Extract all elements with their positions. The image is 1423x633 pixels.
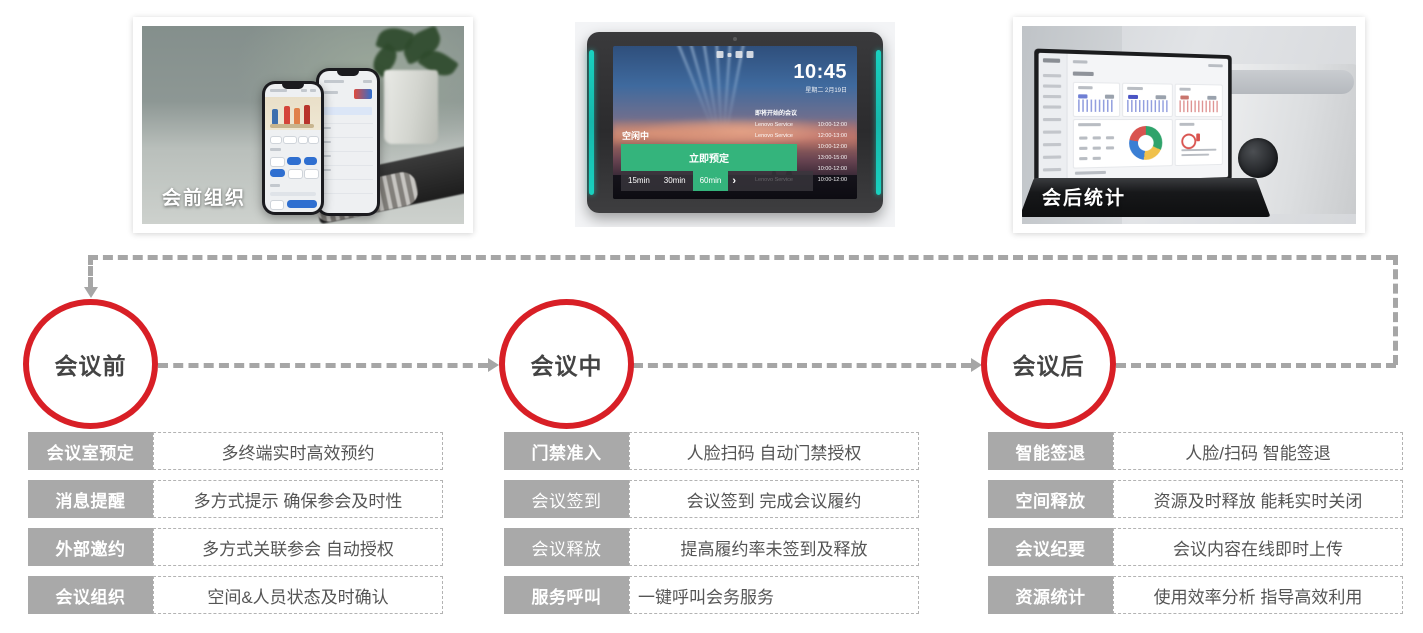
feature-row[interactable]: 空间释放 资源及时释放 能耗实时关闭	[988, 480, 1403, 518]
tablet-date: 星期二 2月19日	[755, 85, 847, 94]
stage-circle-post-meeting[interactable]: 会议后	[981, 299, 1116, 429]
meeting-time: 10:00-12:00	[818, 144, 847, 150]
meeting-name: Lenovo Service	[755, 133, 793, 139]
tablet-duration-bar: 15min 30min 60min ›	[621, 171, 813, 191]
ui-chip	[298, 136, 308, 144]
feature-desc: 会议签到 完成会议履约	[629, 480, 919, 518]
dashboard-nav-item	[1043, 84, 1061, 87]
card-title	[1127, 87, 1143, 90]
ui-line	[324, 80, 344, 83]
dashboard-alert-card	[1175, 119, 1223, 166]
card-title	[1078, 123, 1101, 126]
ui-line	[310, 89, 316, 92]
ui-line	[301, 89, 307, 92]
feature-row[interactable]: 外部邀约 多方式关联参会 自动授权	[28, 528, 443, 566]
duration-option-60[interactable]: 60min	[693, 171, 729, 191]
ui-figure	[294, 108, 300, 125]
ui-line	[323, 141, 331, 143]
ui-line	[270, 148, 281, 151]
feature-tag: 外部邀约	[28, 528, 153, 566]
infographic-canvas: 会前组织	[0, 0, 1423, 633]
dashboard-stat-card	[1175, 84, 1223, 117]
phone-notch	[337, 71, 359, 76]
ui-chip	[304, 169, 319, 179]
tablet-status-led-right	[876, 50, 881, 195]
ui-line	[270, 184, 280, 187]
meeting-time: 10:00-12:00	[818, 166, 847, 172]
meeting-name: Lenovo Service	[755, 122, 793, 128]
ui-line	[323, 169, 331, 171]
feedback-loop-bottom-segment	[1116, 363, 1396, 368]
dashboard-sidebar	[1039, 53, 1068, 183]
meeting-time: 13:00-15:00	[818, 155, 847, 161]
feature-tag: 门禁准入	[504, 432, 629, 470]
dashboard-breadcrumb	[1073, 60, 1088, 63]
alert-line	[1181, 154, 1209, 156]
feedback-loop-arrowhead	[84, 287, 98, 298]
ui-chip	[270, 200, 284, 210]
flow-arrowhead-1	[488, 358, 499, 372]
tablet-status-bar	[717, 51, 754, 58]
card-metric	[1207, 96, 1216, 100]
feature-desc: 空间&人员状态及时确认	[153, 576, 443, 614]
feature-tag: 会议组织	[28, 576, 153, 614]
feature-desc: 资源及时释放 能耗实时关闭	[1113, 480, 1403, 518]
ui-figure	[284, 106, 290, 125]
ui-button	[287, 157, 301, 165]
ui-button	[270, 169, 285, 177]
dashboard-nav-item	[1043, 95, 1061, 98]
laptop-screen-dashboard	[1039, 53, 1229, 183]
tablet-book-now-button[interactable]: 立即预定	[621, 144, 797, 171]
usage-value	[1079, 147, 1087, 150]
feature-row[interactable]: 会议室预定 多终端实时高效预约	[28, 432, 443, 470]
ui-chip	[270, 136, 282, 144]
tablet-room-status: 空闲中	[622, 129, 649, 142]
feature-desc: 会议内容在线即时上传	[1113, 528, 1403, 566]
dashboard-nav-item	[1043, 168, 1061, 171]
ui-divider	[323, 151, 373, 152]
feature-row[interactable]: 资源统计 使用效率分析 指导高效利用	[988, 576, 1403, 614]
tablet-meeting-row: Lenovo Service 12:00-13:00	[755, 133, 847, 139]
post-meeting-caption: 会后统计	[1042, 183, 1126, 210]
usage-donut-chart	[1129, 126, 1162, 160]
dashboard-nav-item	[1043, 130, 1061, 133]
ui-divider	[323, 137, 373, 138]
usage-value	[1106, 146, 1114, 149]
ui-line	[324, 91, 338, 94]
feature-tag: 会议室预定	[28, 432, 153, 470]
stage-circle-in-meeting[interactable]: 会议中	[499, 299, 634, 429]
feature-row[interactable]: 门禁准入 人脸扫码 自动门禁授权	[504, 432, 919, 470]
dashboard-nav-item	[1043, 118, 1061, 121]
dashboard-nav-item	[1043, 155, 1061, 158]
tablet-meeting-row: Lenovo Service 10:00-12:00	[755, 122, 847, 128]
feature-desc: 多终端实时高效预约	[153, 432, 443, 470]
feedback-loop-top-segment	[88, 255, 1396, 260]
meeting-time: 12:00-13:00	[818, 133, 847, 139]
ui-table	[270, 124, 314, 128]
feature-row[interactable]: 会议组织 空间&人员状态及时确认	[28, 576, 443, 614]
ui-chip	[270, 157, 285, 167]
post-meeting-photo-inner: 会后统计	[1022, 26, 1356, 224]
alert-line	[1181, 149, 1216, 152]
feedback-loop-right-segment	[1393, 255, 1398, 365]
phone-back	[316, 68, 380, 216]
feature-row[interactable]: 服务呼叫 一键呼叫会务服务	[504, 576, 919, 614]
ui-line	[363, 80, 372, 83]
tablet-status-led-left	[589, 50, 594, 195]
duration-option-30[interactable]: 30min	[657, 171, 693, 191]
dashboard-stat-card	[1073, 82, 1120, 117]
flow-connector-1	[158, 363, 488, 368]
ui-line	[270, 89, 287, 92]
phone-notch	[282, 84, 304, 89]
card-metric	[1105, 95, 1114, 99]
feature-tag: 空间释放	[988, 480, 1113, 518]
tablet-time: 10:45	[755, 62, 847, 82]
feature-tag: 消息提醒	[28, 480, 153, 518]
usage-value	[1093, 157, 1101, 160]
display-icon	[736, 51, 743, 58]
phone-front	[262, 81, 324, 215]
feature-desc: 人脸扫码 自动门禁授权	[629, 432, 919, 470]
dashboard-usage-card	[1073, 119, 1173, 169]
stage-circle-pre-meeting[interactable]: 会议前	[23, 299, 158, 429]
dashboard-nav-item	[1043, 105, 1061, 108]
tablet-camera-icon	[733, 37, 737, 41]
dashboard-stat-card	[1122, 83, 1173, 117]
dashboard-user-chip	[1208, 64, 1223, 67]
feature-tag: 服务呼叫	[504, 576, 629, 614]
ui-line	[323, 127, 331, 129]
feature-tag: 会议纪要	[988, 528, 1113, 566]
alert-bar	[1196, 133, 1200, 141]
pre-meeting-caption: 会前组织	[162, 183, 246, 210]
pre-meeting-photo-card: 会前组织	[133, 17, 473, 233]
calendar-icon	[717, 51, 724, 58]
in-meeting-photo-inner: 10:45 星期二 2月19日 即将开始的会议 Lenovo Service 1…	[575, 22, 895, 227]
feature-desc: 一键呼叫会务服务	[629, 576, 919, 614]
meeting-time: 10:00-12:00	[818, 177, 847, 183]
card-sparkline	[1127, 100, 1168, 112]
chevron-right-icon[interactable]: ›	[732, 175, 736, 187]
ui-divider	[323, 123, 373, 124]
feature-desc: 使用效率分析 指导高效利用	[1113, 576, 1403, 614]
usage-value	[1093, 147, 1101, 150]
feature-desc: 多方式关联参会 自动授权	[153, 528, 443, 566]
feature-row[interactable]: 会议签到 会议签到 完成会议履约	[504, 480, 919, 518]
card-title	[1078, 86, 1093, 89]
ui-divider	[323, 179, 373, 180]
ui-figure	[272, 109, 278, 125]
ui-figure	[304, 105, 310, 125]
dot-icon	[728, 53, 732, 57]
card-sparkline	[1179, 100, 1218, 112]
ui-bar	[270, 192, 316, 196]
stage-label-post-meeting: 会议后	[1013, 347, 1085, 381]
laptop-lid	[1034, 48, 1231, 187]
alert-ring-icon	[1181, 134, 1196, 150]
card-title	[1179, 123, 1194, 125]
dashboard-logo	[1043, 58, 1060, 63]
ui-chip	[288, 169, 303, 179]
usage-value	[1079, 136, 1087, 139]
card-title	[1179, 88, 1190, 91]
feature-tag: 智能签退	[988, 432, 1113, 470]
meeting-time: 10:00-12:00	[818, 122, 847, 128]
ui-submit-button	[287, 200, 317, 208]
card-metric	[1156, 95, 1167, 99]
feature-desc: 多方式提示 确保参会及时性	[153, 480, 443, 518]
ui-hero-illustration	[265, 97, 321, 130]
card-sparkline	[1078, 99, 1115, 111]
stage-label-pre-meeting: 会议前	[55, 347, 127, 381]
ui-divider	[323, 165, 373, 166]
feature-tag: 会议释放	[504, 528, 629, 566]
usage-value	[1079, 157, 1087, 160]
stage-label-in-meeting: 会议中	[531, 347, 603, 381]
phone-back-screen	[319, 71, 377, 213]
meeting-room-tablet: 10:45 星期二 2月19日 即将开始的会议 Lenovo Service 1…	[587, 32, 883, 213]
dashboard-nav-item	[1043, 143, 1061, 146]
card-metric	[1128, 95, 1138, 99]
tablet-screen: 10:45 星期二 2月19日 即将开始的会议 Lenovo Service 1…	[613, 46, 857, 199]
in-meeting-photo-card: 10:45 星期二 2月19日 即将开始的会议 Lenovo Service 1…	[575, 22, 895, 227]
duration-option-15[interactable]: 15min	[621, 171, 657, 191]
feature-row[interactable]: 会议纪要 会议内容在线即时上传	[988, 528, 1403, 566]
feature-tag: 资源统计	[988, 576, 1113, 614]
post-meeting-photo-card: 会后统计	[1013, 17, 1365, 233]
ui-highlight-row	[324, 107, 372, 115]
phone-front-screen	[265, 84, 321, 212]
feature-tag: 会议签到	[504, 480, 629, 518]
pre-meeting-photo-inner: 会前组织	[142, 26, 464, 224]
ui-line	[323, 155, 331, 157]
ui-button	[304, 157, 317, 165]
feedback-loop-left-segment	[88, 255, 93, 287]
ui-chip	[283, 136, 297, 144]
dashboard-footer-label	[1075, 171, 1106, 174]
dashboard-nav-item	[1043, 74, 1061, 77]
feature-row[interactable]: 消息提醒 多方式提示 确保参会及时性	[28, 480, 443, 518]
flow-connector-2	[633, 363, 971, 368]
feature-row[interactable]: 会议释放 提高履约率未签到及释放	[504, 528, 919, 566]
ui-avatar-group	[354, 89, 372, 99]
usage-value	[1106, 136, 1114, 139]
card-metric	[1180, 96, 1188, 100]
printer-icon	[747, 51, 754, 58]
dashboard-page-title	[1073, 71, 1094, 75]
ui-chip	[308, 136, 319, 144]
feature-desc: 人脸/扫码 智能签退	[1113, 432, 1403, 470]
ui-divider	[323, 193, 373, 194]
feature-desc: 提高履约率未签到及释放	[629, 528, 919, 566]
card-metric	[1078, 94, 1087, 98]
plant-pot	[384, 70, 438, 144]
usage-value	[1093, 136, 1101, 139]
tablet-upcoming-title: 即将开始的会议	[755, 108, 847, 117]
feature-row[interactable]: 智能签退 人脸/扫码 智能签退	[988, 432, 1403, 470]
